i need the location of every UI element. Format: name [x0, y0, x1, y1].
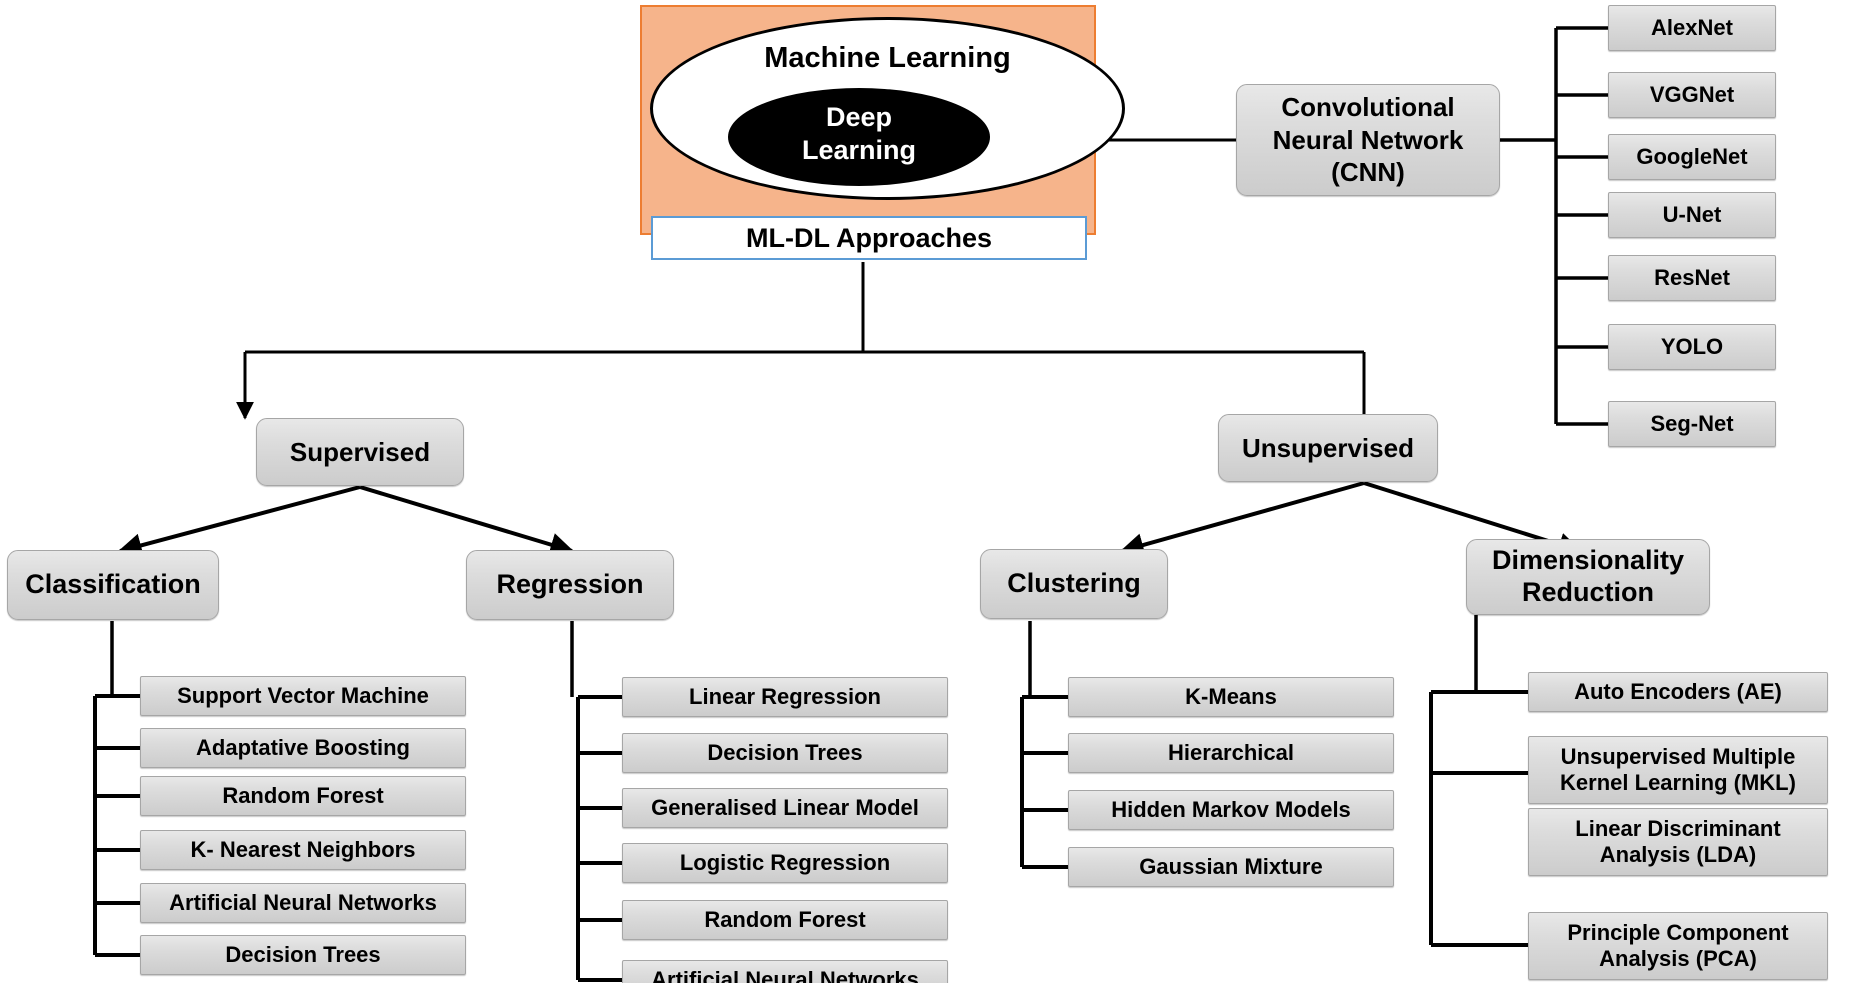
node-cnn-line1: Convolutional [1281, 91, 1454, 124]
node-clustering-label: Clustering [1007, 568, 1141, 600]
leaf-cnn-0-label: AlexNet [1651, 15, 1733, 41]
leaf-regression-5[interactable]: Artificial Neural Networks [622, 960, 948, 983]
leaf-cnn-3[interactable]: U-Net [1608, 192, 1776, 238]
leaf-clustering-3[interactable]: Gaussian Mixture [1068, 847, 1394, 887]
node-regression[interactable]: Regression [466, 550, 674, 620]
leaf-dimred-1-line2: Kernel Learning (MKL) [1560, 770, 1796, 796]
leaf-regression-0[interactable]: Linear Regression [622, 677, 948, 717]
leaf-classification-0-label: Support Vector Machine [177, 683, 429, 709]
node-clustering[interactable]: Clustering [980, 549, 1168, 619]
leaf-classification-5[interactable]: Decision Trees [140, 935, 466, 975]
node-dimensionality-reduction-line1: Dimensionality [1492, 545, 1684, 577]
leaf-dimred-2-line2: Analysis (LDA) [1600, 842, 1756, 868]
leaf-clustering-0-label: K-Means [1185, 684, 1277, 710]
leaf-classification-5-label: Decision Trees [225, 942, 380, 968]
leaf-regression-2-label: Generalised Linear Model [651, 795, 919, 821]
leaf-regression-4-label: Random Forest [704, 907, 865, 933]
ml-dl-approaches-caption: ML-DL Approaches [651, 216, 1087, 260]
leaf-clustering-3-label: Gaussian Mixture [1139, 854, 1322, 880]
leaf-cnn-1-label: VGGNet [1650, 82, 1734, 108]
leaf-regression-3-label: Logistic Regression [680, 850, 890, 876]
leaf-regression-2[interactable]: Generalised Linear Model [622, 788, 948, 828]
leaf-classification-4[interactable]: Artificial Neural Networks [140, 883, 466, 923]
leaf-classification-0[interactable]: Support Vector Machine [140, 676, 466, 716]
leaf-regression-5-label: Artificial Neural Networks [651, 967, 919, 983]
leaf-dimred-3-line2: Analysis (PCA) [1599, 946, 1757, 972]
leaf-regression-4[interactable]: Random Forest [622, 900, 948, 940]
leaf-classification-3[interactable]: K- Nearest Neighbors [140, 830, 466, 870]
leaf-classification-3-label: K- Nearest Neighbors [191, 837, 416, 863]
node-dimensionality-reduction-line2: Reduction [1522, 577, 1654, 609]
leaf-classification-1-label: Adaptative Boosting [196, 735, 410, 761]
node-supervised-label: Supervised [290, 437, 430, 468]
leaf-cnn-4[interactable]: ResNet [1608, 255, 1776, 301]
leaf-clustering-1[interactable]: Hierarchical [1068, 733, 1394, 773]
node-cnn-line2: Neural Network [1273, 124, 1464, 157]
diagram-canvas: Machine Learning Deep Learning ML-DL App… [0, 0, 1850, 983]
leaf-regression-1-label: Decision Trees [707, 740, 862, 766]
machine-learning-label: Machine Learning [650, 42, 1125, 75]
leaf-regression-1[interactable]: Decision Trees [622, 733, 948, 773]
leaf-cnn-4-label: ResNet [1654, 265, 1730, 291]
leaf-cnn-2-label: GoogleNet [1636, 144, 1747, 170]
leaf-cnn-5-label: YOLO [1661, 334, 1723, 360]
leaf-dimred-2[interactable]: Linear Discriminant Analysis (LDA) [1528, 808, 1828, 876]
leaf-dimred-3[interactable]: Principle Component Analysis (PCA) [1528, 912, 1828, 980]
leaf-regression-0-label: Linear Regression [689, 684, 881, 710]
node-unsupervised-label: Unsupervised [1242, 433, 1414, 464]
node-dimensionality-reduction[interactable]: Dimensionality Reduction [1466, 539, 1710, 615]
leaf-dimred-1[interactable]: Unsupervised Multiple Kernel Learning (M… [1528, 736, 1828, 804]
leaf-clustering-2[interactable]: Hidden Markov Models [1068, 790, 1394, 830]
leaf-cnn-1[interactable]: VGGNet [1608, 72, 1776, 118]
leaf-clustering-1-label: Hierarchical [1168, 740, 1294, 766]
leaf-classification-1[interactable]: Adaptative Boosting [140, 728, 466, 768]
leaf-dimred-0-label: Auto Encoders (AE) [1574, 679, 1782, 705]
leaf-cnn-5[interactable]: YOLO [1608, 324, 1776, 370]
leaf-cnn-6-label: Seg-Net [1650, 411, 1733, 437]
leaf-dimred-0[interactable]: Auto Encoders (AE) [1528, 672, 1828, 712]
leaf-classification-4-label: Artificial Neural Networks [169, 890, 437, 916]
node-cnn-line3: (CNN) [1331, 156, 1405, 189]
leaf-classification-2-label: Random Forest [222, 783, 383, 809]
node-regression-label: Regression [496, 569, 643, 601]
node-classification-label: Classification [25, 569, 201, 601]
leaf-dimred-1-line1: Unsupervised Multiple [1561, 744, 1796, 770]
node-classification[interactable]: Classification [7, 550, 219, 620]
deep-learning-label: Deep Learning [728, 101, 990, 167]
leaf-cnn-3-label: U-Net [1663, 202, 1722, 228]
leaf-cnn-6[interactable]: Seg-Net [1608, 401, 1776, 447]
leaf-classification-2[interactable]: Random Forest [140, 776, 466, 816]
leaf-clustering-0[interactable]: K-Means [1068, 677, 1394, 717]
node-cnn[interactable]: Convolutional Neural Network (CNN) [1236, 84, 1500, 196]
deep-learning-label-line2: Learning [728, 134, 990, 167]
leaf-dimred-2-line1: Linear Discriminant [1575, 816, 1780, 842]
node-unsupervised[interactable]: Unsupervised [1218, 414, 1438, 482]
leaf-clustering-2-label: Hidden Markov Models [1111, 797, 1351, 823]
leaf-regression-3[interactable]: Logistic Regression [622, 843, 948, 883]
node-supervised[interactable]: Supervised [256, 418, 464, 486]
leaf-cnn-2[interactable]: GoogleNet [1608, 134, 1776, 180]
leaf-dimred-3-line1: Principle Component [1567, 920, 1788, 946]
deep-learning-label-line1: Deep [728, 101, 990, 134]
leaf-cnn-0[interactable]: AlexNet [1608, 5, 1776, 51]
